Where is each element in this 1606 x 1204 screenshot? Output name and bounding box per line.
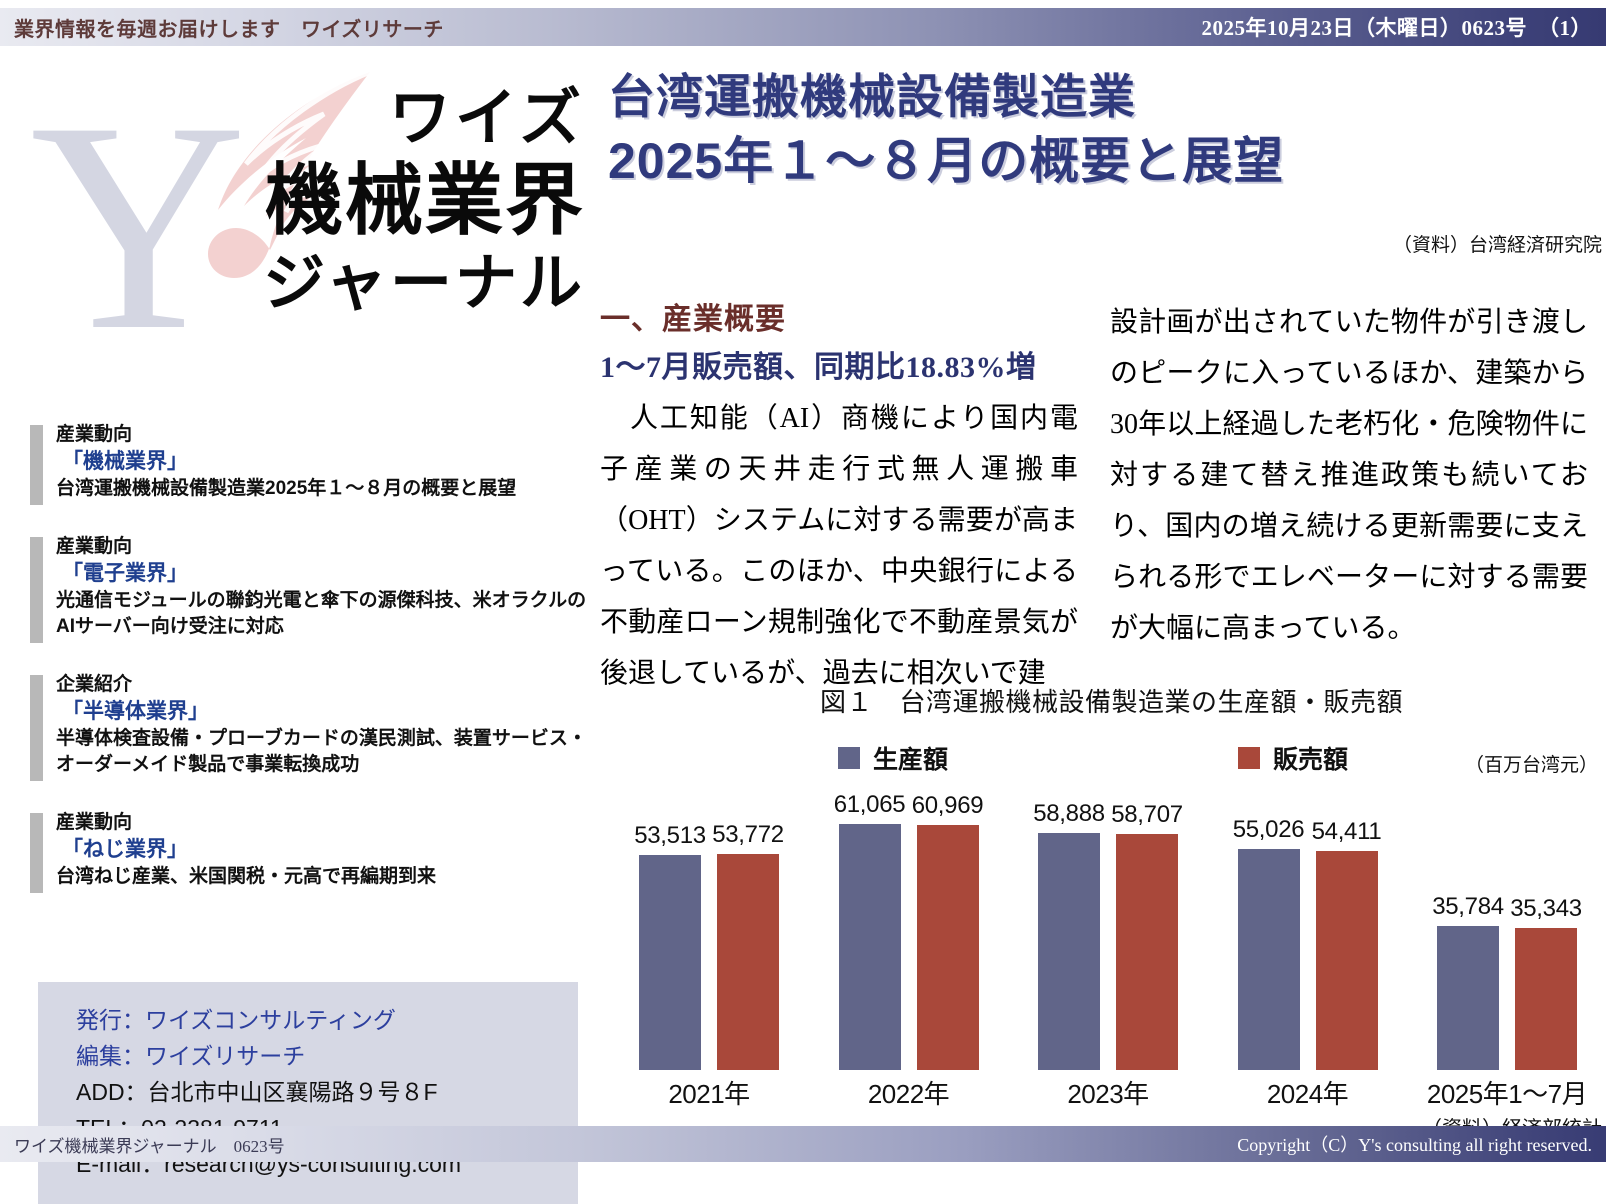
- bar-column-sales-0: 53,772: [717, 790, 779, 1070]
- index-kicker: 産業動向: [56, 810, 590, 836]
- bar-sales: [917, 825, 979, 1070]
- bar-value-label: 61,065: [834, 791, 906, 819]
- index-sector: 「ねじ業界」: [56, 836, 590, 864]
- article-column-left: 一、産業概要 1～7月販売額、同期比18.83%増 人工知能（AI）商機により国…: [600, 297, 1078, 699]
- bar-group-4: 35,784 35,343: [1416, 790, 1598, 1070]
- bar-column-sales-3: 54,411: [1316, 790, 1378, 1070]
- masthead-tagline: 業界情報を毎週お届けします ワイズリサーチ: [14, 13, 444, 42]
- index-accent-bar: [30, 675, 43, 781]
- bar-sales: [1116, 834, 1178, 1070]
- x-tick-label: 2021年: [618, 1074, 800, 1111]
- bar-value-label: 35,343: [1510, 895, 1582, 923]
- index-description: 台湾運搬機械設備製造業2025年１～８月の概要と展望: [56, 476, 590, 502]
- chart-title: 図１ 台湾運搬機械設備製造業の生産額・販売額: [820, 682, 1403, 719]
- x-tick-label: 2022年: [818, 1074, 1000, 1111]
- index-entry-denshi[interactable]: 産業動向 「電子業界」 光通信モジュールの聯鈞光電と傘下の源傑科技、米オラクルの…: [30, 534, 590, 640]
- bar-column-production-2: 58,888: [1038, 790, 1100, 1070]
- article-column-right: 設計画が出されていた物件が引き渡しのピークに入っているほか、建築から30年以上経…: [1110, 297, 1588, 699]
- figure-1-chart: 図１ 台湾運搬機械設備製造業の生産額・販売額 生産額 販売額 （百万台湾元） 5…: [600, 682, 1606, 1112]
- bar-sales: [717, 854, 779, 1070]
- footer-publication-name: ワイズ機械業界ジャーナル 0623号: [14, 1132, 285, 1157]
- index-entry-kikai[interactable]: 産業動向 「機械業界」 台湾運搬機械設備製造業2025年１～８月の概要と展望: [30, 422, 590, 502]
- legend-swatch-production: [838, 747, 860, 769]
- left-sidebar: Y ワイズ 機械業界 ジャーナル 産業動向 「機械業界」 台湾運搬機械設備製造業…: [0, 52, 600, 1112]
- bar-column-sales-1: 60,969: [917, 790, 979, 1070]
- contents-index: 産業動向 「機械業界」 台湾運搬機械設備製造業2025年１～８月の概要と展望 産…: [30, 422, 590, 922]
- headline-line-2: 2025年１～８月の概要と展望: [608, 128, 1588, 194]
- article-body: 一、産業概要 1～7月販売額、同期比18.83%増 人工知能（AI）商機により国…: [600, 297, 1606, 699]
- index-accent-bar: [30, 537, 43, 643]
- legend-item-sales: 販売額: [1238, 740, 1348, 776]
- bar-value-label: 58,707: [1111, 801, 1183, 829]
- index-description: 台湾ねじ産業、米国関税・元高で再編期到来: [56, 864, 590, 890]
- bar-value-label: 55,026: [1233, 816, 1305, 844]
- chart-x-axis: 2021年 2022年 2023年 2024年 2025年1～7月: [618, 1074, 1598, 1111]
- bar-group-3: 55,026 54,411: [1217, 790, 1399, 1070]
- bar-production: [1437, 926, 1499, 1070]
- bar-production: [1038, 833, 1100, 1070]
- x-tick-label: 2024年: [1217, 1074, 1399, 1111]
- masthead-issue-info: 2025年10月23日（木曜日）0623号 （1）: [1202, 12, 1593, 42]
- bar-value-label: 60,969: [912, 792, 984, 820]
- headline-source-note: （資料）台湾経済研究院: [1393, 230, 1602, 257]
- chart-legend: 生産額 販売額: [838, 740, 1538, 776]
- bar-group-2: 58,888 58,707: [1017, 790, 1199, 1070]
- legend-item-production: 生産額: [838, 740, 948, 776]
- index-sector: 「電子業界」: [56, 560, 590, 588]
- index-kicker: 産業動向: [56, 422, 590, 448]
- legend-swatch-sales: [1238, 747, 1260, 769]
- bar-group-0: 53,513 53,772: [618, 790, 800, 1070]
- publication-logo: Y ワイズ 機械業界 ジャーナル: [0, 52, 600, 392]
- index-kicker: 産業動向: [56, 534, 590, 560]
- bar-column-production-3: 55,026: [1238, 790, 1300, 1070]
- chart-unit-label: （百万台湾元）: [1465, 750, 1598, 777]
- bar-value-label: 35,784: [1432, 893, 1504, 921]
- bar-column-production-4: 35,784: [1437, 790, 1499, 1070]
- bar-sales: [1316, 851, 1378, 1070]
- contact-address: ADD：台北市中山区襄陽路９号８F: [76, 1074, 550, 1110]
- index-accent-bar: [30, 813, 43, 893]
- contact-publisher: 発行：ワイズコンサルティング: [76, 1002, 550, 1038]
- x-tick-label: 2023年: [1017, 1074, 1199, 1111]
- contact-editor: 編集：ワイズリサーチ: [76, 1038, 550, 1074]
- logo-line-1: ワイズ: [175, 82, 585, 156]
- index-entry-neji[interactable]: 産業動向 「ねじ業界」 台湾ねじ産業、米国関税・元高で再編期到来: [30, 810, 590, 890]
- bar-column-sales-2: 58,707: [1116, 790, 1178, 1070]
- index-sector: 「半導体業界」: [56, 698, 590, 726]
- logo-line-3: ジャーナル: [175, 244, 585, 324]
- article-headline: 台湾運搬機械設備製造業 2025年１～８月の概要と展望: [608, 66, 1588, 194]
- paragraph-left: 人工知能（AI）商機により国内電子産業の天井走行式無人運搬車（OHT）システムに…: [600, 393, 1078, 699]
- index-entry-handoutai[interactable]: 企業紹介 「半導体業界」 半導体検査設備・プローブカードの漢民測試、装置サービス…: [30, 672, 590, 778]
- x-tick-label: 2025年1～7月: [1416, 1074, 1598, 1111]
- footer-copyright: Copyright（C）Y's consulting all right res…: [1237, 1131, 1592, 1157]
- bar-sales: [1515, 928, 1577, 1070]
- bar-value-label: 58,888: [1033, 800, 1105, 828]
- bar-production: [839, 824, 901, 1070]
- masthead-bar: 業界情報を毎週お届けします ワイズリサーチ 2025年10月23日（木曜日）06…: [0, 8, 1606, 46]
- main-article-column: 台湾運搬機械設備製造業 2025年１～８月の概要と展望 （資料）台湾経済研究院 …: [600, 52, 1606, 1112]
- bar-production: [639, 855, 701, 1070]
- index-accent-bar: [30, 425, 43, 505]
- legend-label-production: 生産額: [873, 740, 948, 776]
- bar-value-label: 53,772: [712, 821, 784, 849]
- publisher-contact-box: 発行：ワイズコンサルティング 編集：ワイズリサーチ ADD：台北市中山区襄陽路９…: [38, 982, 578, 1204]
- section-heading: 一、産業概要: [600, 297, 1078, 343]
- footer-bar: ワイズ機械業界ジャーナル 0623号 Copyright（C）Y's consu…: [0, 1126, 1606, 1162]
- index-description: 光通信モジュールの聯鈞光電と傘下の源傑科技、米オラクルのAIサーバー向け受注に対…: [56, 588, 590, 640]
- bar-column-production-1: 61,065: [839, 790, 901, 1070]
- index-kicker: 企業紹介: [56, 672, 590, 698]
- chart-plot-area: 53,513 53,772 61,065 60,969: [618, 790, 1598, 1070]
- headline-line-1: 台湾運搬機械設備製造業: [608, 66, 1588, 128]
- legend-label-sales: 販売額: [1273, 740, 1348, 776]
- index-sector: 「機械業界」: [56, 448, 590, 476]
- logo-wordmark: ワイズ 機械業界 ジャーナル: [175, 82, 585, 324]
- bar-group-1: 61,065 60,969: [818, 790, 1000, 1070]
- bar-production: [1238, 849, 1300, 1070]
- logo-line-2: 機械業界: [175, 156, 585, 244]
- bar-column-production-0: 53,513: [639, 790, 701, 1070]
- index-description: 半導体検査設備・プローブカードの漢民測試、装置サービス・オーダーメイド製品で事業…: [56, 726, 590, 778]
- section-subheading: 1～7月販売額、同期比18.83%増: [600, 343, 1078, 393]
- bar-column-sales-4: 35,343: [1515, 790, 1577, 1070]
- bar-value-label: 53,513: [634, 822, 706, 850]
- paragraph-right: 設計画が出されていた物件が引き渡しのピークに入っているほか、建築から30年以上経…: [1110, 297, 1588, 654]
- bar-value-label: 54,411: [1312, 818, 1382, 846]
